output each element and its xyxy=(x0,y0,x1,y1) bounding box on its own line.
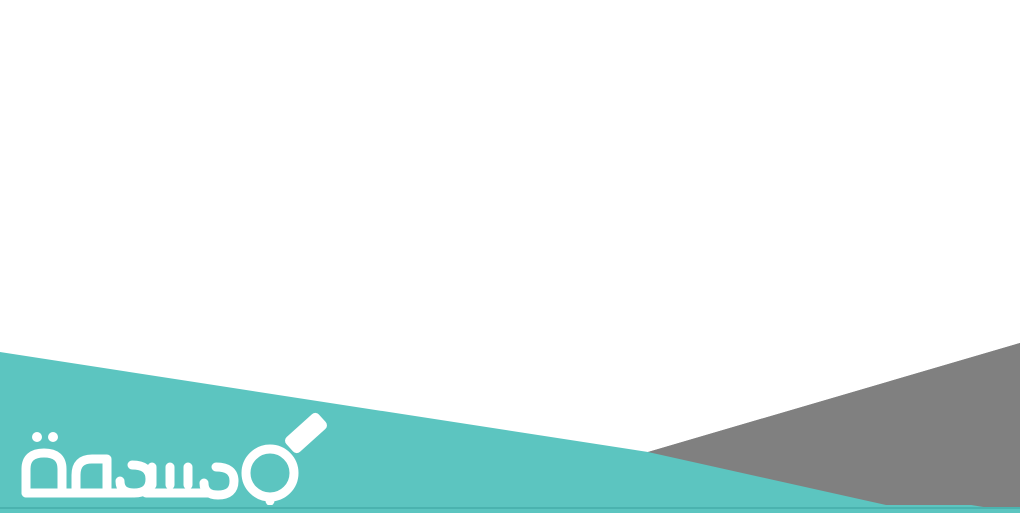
logo-letter-waw-2 xyxy=(204,467,234,495)
logo-letter-ta-marbuta xyxy=(26,453,62,493)
logo-letter-ain xyxy=(76,459,107,493)
magnifier-pen-icon xyxy=(283,411,329,455)
bottom-teal-strip xyxy=(0,509,1020,513)
bottom-divider-line xyxy=(0,507,1020,509)
logo-dot-left xyxy=(32,432,42,442)
brand-logo[interactable]: موسوعة xyxy=(12,409,342,505)
gray-wedge-overlay xyxy=(648,343,1020,505)
gray-wedge xyxy=(648,343,1020,513)
logo-dot-right xyxy=(48,432,58,442)
logo-magnifier-circle xyxy=(246,449,294,497)
poster-canvas: رواية سيد القمر الاسود كاملة pdf xyxy=(0,0,1020,513)
page-title: رواية سيد القمر الاسود كاملة pdf xyxy=(0,222,1020,278)
logo-svg: موسوعة xyxy=(12,409,342,505)
logo-letter-seen-teeth xyxy=(152,467,188,485)
